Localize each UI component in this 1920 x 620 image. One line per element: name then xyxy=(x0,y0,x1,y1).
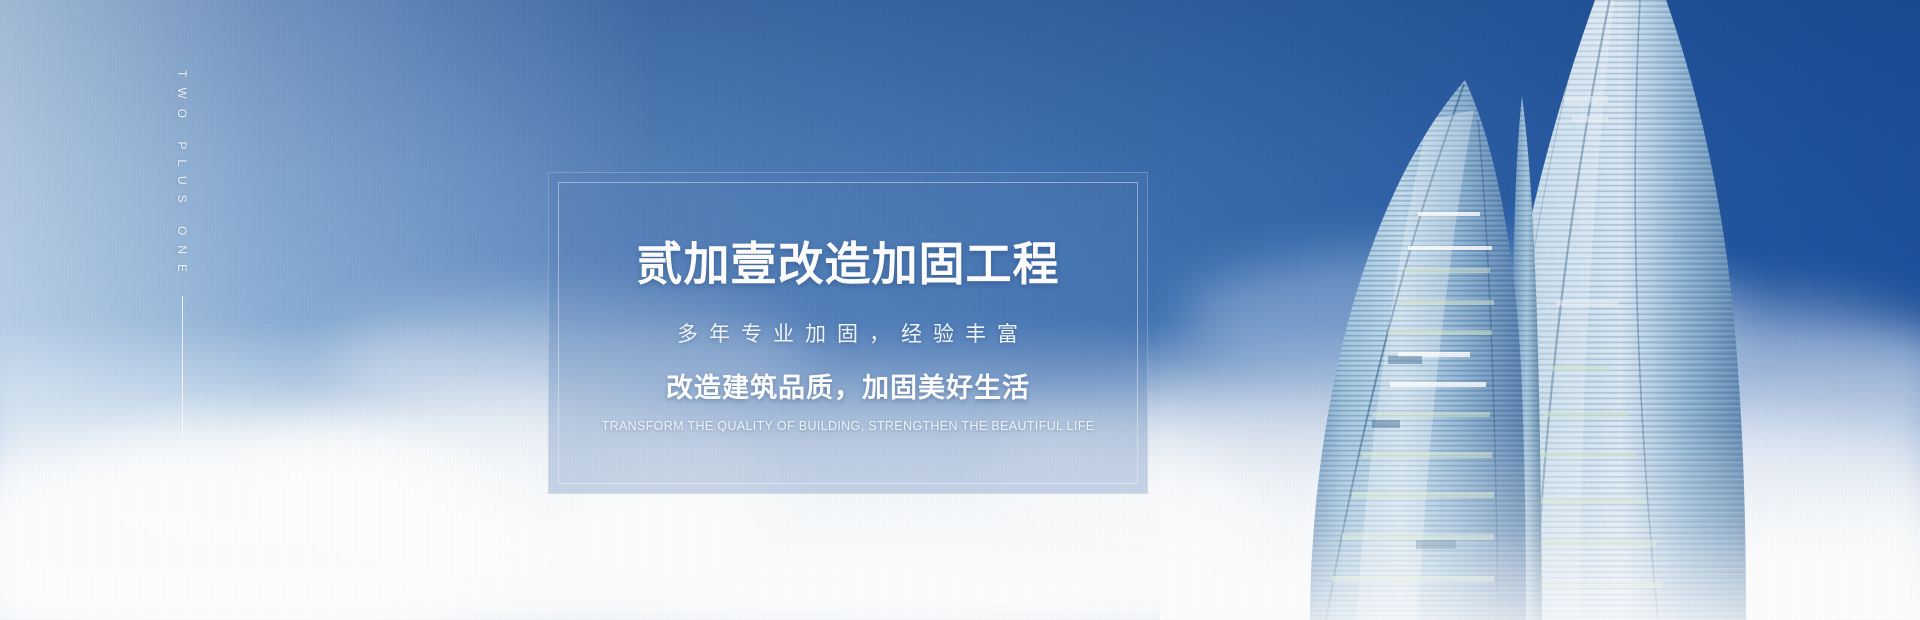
hero-text-panel: 贰加壹改造加固工程 多年专业加固，经验丰富 改造建筑品质，加固美好生活 TRAN… xyxy=(548,172,1148,494)
brand-vertical-mark: TWO PLUS ONE 1 xyxy=(176,70,188,620)
page-title: 贰加壹改造加固工程 xyxy=(637,239,1060,290)
tagline-chinese: 改造建筑品质，加固美好生活 xyxy=(666,375,1030,402)
brand-vertical-rule xyxy=(182,296,183,620)
tagline-english: TRANSFORM THE QUALITY OF BUILDING, STREN… xyxy=(602,420,1095,433)
brand-small-mark: 1 xyxy=(148,568,155,580)
subtitle-chinese: 多年专业加固，经验丰富 xyxy=(677,324,1029,345)
brand-vertical-text: TWO PLUS ONE xyxy=(176,70,188,282)
hero-banner: TWO PLUS ONE 1 贰加壹改造加固工程 多年专业加固，经验丰富 改造建… xyxy=(0,0,1920,620)
twin-towers-image xyxy=(1160,0,1920,620)
hero-text-panel-inner-border: 贰加壹改造加固工程 多年专业加固，经验丰富 改造建筑品质，加固美好生活 TRAN… xyxy=(558,182,1138,484)
